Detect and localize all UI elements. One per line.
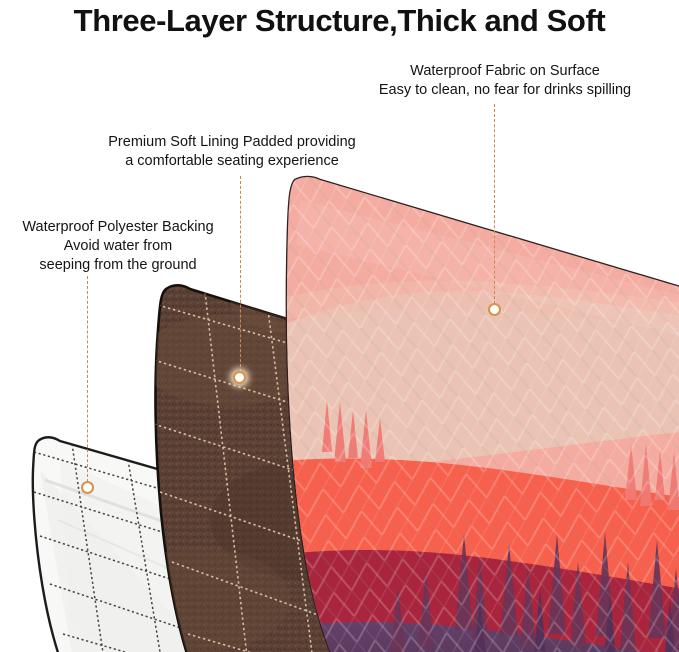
leader-line-backing <box>87 276 88 482</box>
callout-backing-line1: Waterproof Polyester Backing <box>0 218 243 237</box>
callout-surface-line1: Waterproof Fabric on Surface <box>335 62 675 81</box>
callout-polyester-backing: Waterproof Polyester Backing Avoid water… <box>0 218 243 275</box>
callout-backing-line3: seeping from the ground <box>0 256 243 275</box>
callout-lining-line2: a comfortable seating experience <box>62 152 402 171</box>
layer-top-printed-surface <box>260 150 679 652</box>
callout-soft-lining: Premium Soft Lining Padded providing a c… <box>62 133 402 171</box>
callout-dot-backing[interactable] <box>81 481 94 494</box>
leader-line-surface <box>494 104 495 304</box>
callout-backing-line2: Avoid water from <box>0 237 243 256</box>
callout-lining-line1: Premium Soft Lining Padded providing <box>62 133 402 152</box>
callout-waterproof-surface: Waterproof Fabric on Surface Easy to cle… <box>335 62 675 100</box>
callout-dot-surface[interactable] <box>488 303 501 316</box>
callout-dot-lining[interactable] <box>233 371 246 384</box>
callout-surface-line2: Easy to clean, no fear for drinks spilli… <box>335 81 675 100</box>
infographic-canvas: Three-Layer Structure,Thick and Soft <box>0 0 679 652</box>
